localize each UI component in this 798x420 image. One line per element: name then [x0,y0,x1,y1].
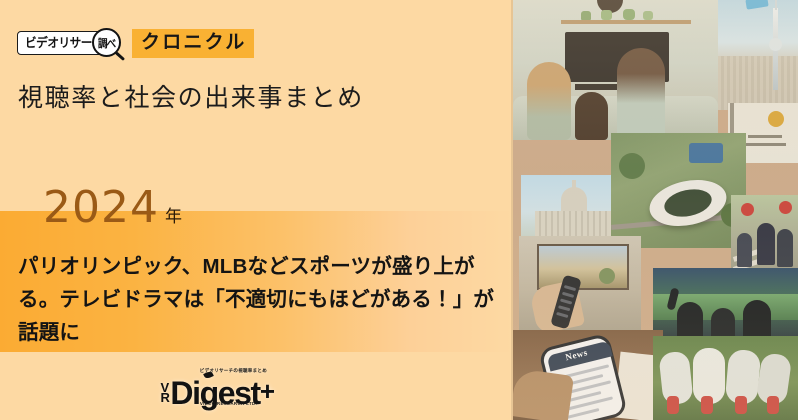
magnifier-handle [115,52,125,61]
remote-button [556,312,568,318]
source-badge-label: ビデオリサーチ [25,37,103,50]
sky-banner [745,0,768,10]
pedestrian-silhouette [757,223,775,265]
image-collage: News [513,0,798,420]
shelf-plant [643,11,653,20]
logo-plus: + [260,378,275,408]
tree-canopy [619,153,645,179]
person-silhouette [575,92,608,140]
skytree-tower [773,8,778,90]
shelf-plant [623,9,635,20]
screen-content [599,268,615,284]
promo-banner: ビデオリサーチ 調べ クロニクル 視聴率と社会の出来事まとめ 2024 年 パリ… [0,0,798,420]
television-screen [537,244,629,290]
spectator-silhouette [677,302,703,340]
year-suffix: 年 [165,208,182,225]
wall-shelf [561,20,691,24]
rugby-sock [667,396,679,414]
logo-lockup: ビデオリサーチの視聴率まとめ V R Digest + VIDEO RESEAR… [161,378,275,408]
collage-tile-rugby-scrum [653,336,798,420]
rugby-sock [701,396,713,414]
news-text-line [566,408,600,419]
banner-text-line [742,143,786,146]
spectator-silhouette [743,300,771,340]
sports-ground [689,143,723,163]
logo-tagline-top: ビデオリサーチの視聴率まとめ [200,368,267,374]
brand-logo[interactable]: ビデオリサーチの視聴率まとめ V R Digest + VIDEO RESEAR… [115,310,285,420]
logo-vr-mark: V R [161,383,170,408]
source-badge: ビデオリサーチ 調べ [17,31,116,55]
panel-divider [511,0,513,420]
remote-button [560,298,572,304]
shelf-plant [581,11,591,20]
collage-tile-baseball-stadium-crowd [653,268,798,340]
collage-tile-national-stadium-aerial [611,133,746,248]
no-entry-sign-icon [741,203,754,216]
collage-tile-tokyo-skytree-cityscape [718,0,798,110]
remote-button [564,285,576,291]
no-entry-sign-icon [779,201,792,214]
rugby-sock [735,396,747,414]
person-silhouette [617,48,665,140]
year-block: 2024 年 [43,186,182,230]
remote-button [558,305,570,311]
pedestrian-silhouette [777,229,793,267]
collage-tile-smartphone-news-app: News [513,330,663,420]
diet-dome [561,187,587,213]
banner-text-line [748,135,782,138]
logo-tagline-bottom: VIDEO RESEARCH LTD. [200,401,257,406]
person-silhouette [527,62,571,140]
year-number: 2024 [43,186,159,230]
remote-button [562,292,574,298]
hand [513,368,574,420]
chronicle-tag: クロニクル [132,29,254,58]
shelf-plant [601,10,612,20]
badge-row: ビデオリサーチ 調べ クロニクル [17,29,254,58]
logo-r: R [161,393,170,404]
pedestrian-silhouette [737,233,752,267]
page-title: 視聴率と社会の出来事まとめ [18,82,364,115]
rugby-sock [767,396,779,414]
collage-tile-family-watching-tv [513,0,718,140]
collage-tile-tv-remote-control [519,236,641,332]
cityscape [718,56,798,110]
olympics-emblem-icon [768,111,784,127]
